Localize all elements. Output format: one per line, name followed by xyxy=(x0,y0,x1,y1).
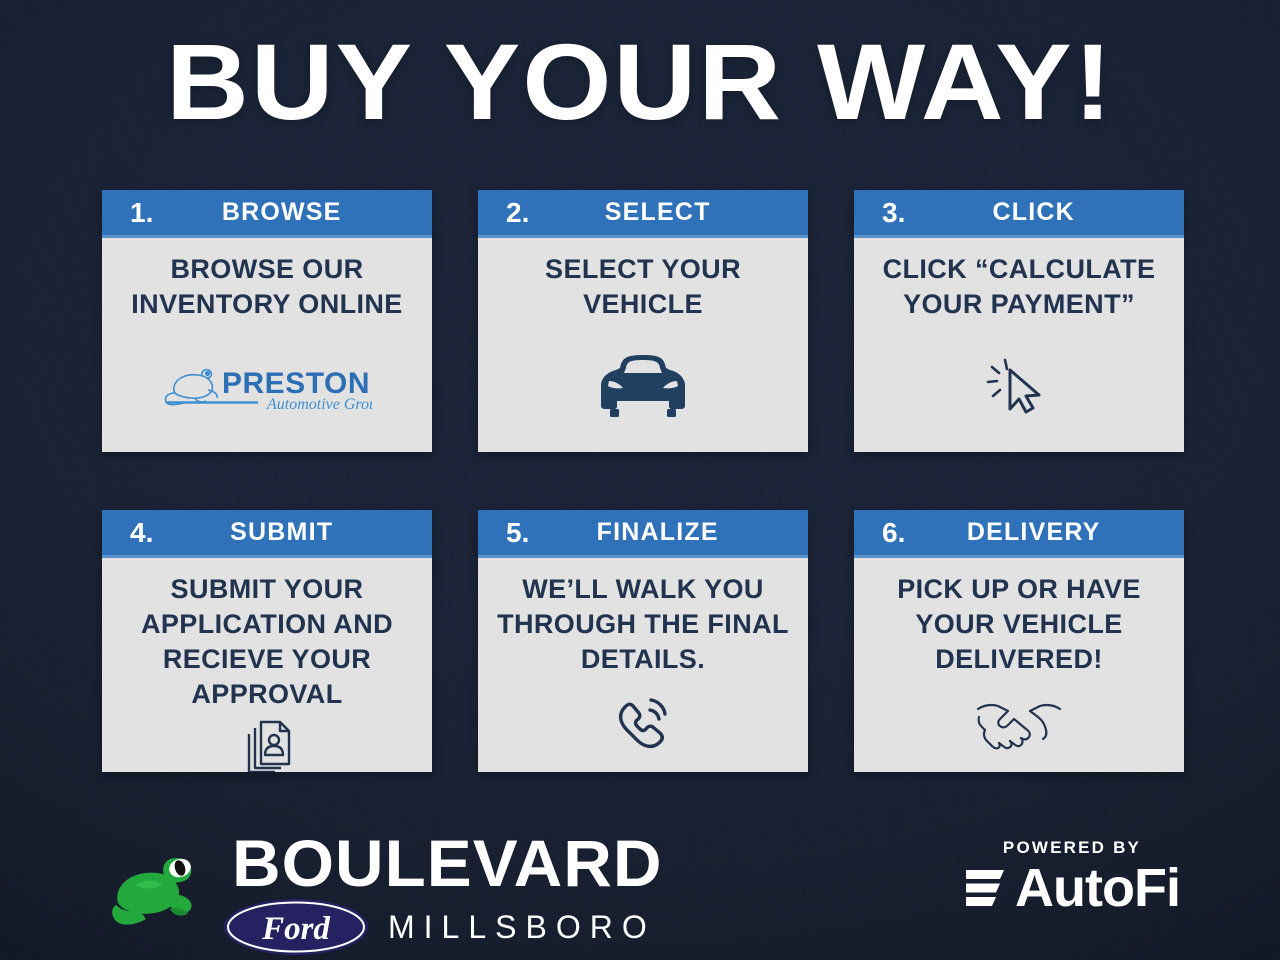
preston-automotive-group-logo: PRESTON Automotive Group xyxy=(114,322,420,444)
car-front-icon xyxy=(490,322,796,444)
cursor-click-icon xyxy=(866,322,1172,444)
step-header: 1. BROWSE xyxy=(102,190,432,238)
step-description: CLICK “CALCULATE YOUR PAYMENT” xyxy=(866,252,1172,322)
handshake-icon xyxy=(866,677,1172,764)
step-title: SELECT xyxy=(529,198,808,227)
step-number: 3. xyxy=(882,197,905,229)
powered-by-autofi[interactable]: POWERED BY AutoFi xyxy=(964,838,1180,915)
step-header: 5. FINALIZE xyxy=(478,510,808,558)
page-title: BUY YOUR WAY! xyxy=(0,28,1280,136)
ford-logo: Ford xyxy=(222,897,370,957)
dealer-branding[interactable]: BOULEVARD Ford MILLSBORO xyxy=(110,832,656,957)
step-title: FINALIZE xyxy=(529,518,808,547)
step-card-select[interactable]: 2. SELECT SELECT YOUR VEHICLE xyxy=(478,190,808,452)
step-card-delivery[interactable]: 6. DELIVERY PICK UP OR HAVE YOUR VEHICLE… xyxy=(854,510,1184,772)
step-card-click[interactable]: 3. CLICK CLICK “CALCULATE YOUR PAYMENT” xyxy=(854,190,1184,452)
step-body: WE’LL WALK YOU THROUGH THE FINAL DETAILS… xyxy=(478,558,808,772)
step-body: SELECT YOUR VEHICLE xyxy=(478,238,808,452)
step-card-browse[interactable]: 1. BROWSE BROWSE OUR INVENTORY ONLINE xyxy=(102,190,432,452)
document-person-icon xyxy=(114,712,420,772)
step-header: 4. SUBMIT xyxy=(102,510,432,558)
phone-ringing-icon xyxy=(490,677,796,764)
step-title: CLICK xyxy=(905,198,1184,227)
step-description: BROWSE OUR INVENTORY ONLINE xyxy=(114,252,420,322)
step-header: 6. DELIVERY xyxy=(854,510,1184,558)
step-number: 6. xyxy=(882,517,905,549)
step-description: WE’LL WALK YOU THROUGH THE FINAL DETAILS… xyxy=(490,572,796,677)
step-body: CLICK “CALCULATE YOUR PAYMENT” xyxy=(854,238,1184,452)
steps-grid: 1. BROWSE BROWSE OUR INVENTORY ONLINE xyxy=(102,190,1184,772)
step-title: SUBMIT xyxy=(153,518,432,547)
green-frog-logo xyxy=(110,849,222,941)
footer: BOULEVARD Ford MILLSBORO POWERED BY xyxy=(0,820,1280,960)
step-header: 3. CLICK xyxy=(854,190,1184,238)
autofi-wordmark: AutoFi xyxy=(1015,861,1180,915)
step-title: BROWSE xyxy=(153,198,432,227)
step-number: 4. xyxy=(130,517,153,549)
step-number: 1. xyxy=(130,197,153,229)
step-body: SUBMIT YOUR APPLICATION AND RECIEVE YOUR… xyxy=(102,558,432,772)
dealer-name: BOULEVARD xyxy=(232,832,664,895)
step-description: PICK UP OR HAVE YOUR VEHICLE DELIVERED! xyxy=(866,572,1172,677)
dealer-location: MILLSBORO xyxy=(388,909,656,946)
step-card-submit[interactable]: 4. SUBMIT SUBMIT YOUR APPLICATION AND RE… xyxy=(102,510,432,772)
step-title: DELIVERY xyxy=(905,518,1184,547)
step-number: 5. xyxy=(506,517,529,549)
ford-wordmark: Ford xyxy=(261,911,330,947)
powered-by-label: POWERED BY xyxy=(1003,838,1141,858)
step-description: SUBMIT YOUR APPLICATION AND RECIEVE YOUR… xyxy=(114,572,420,712)
autofi-mark-icon xyxy=(964,866,1010,910)
step-description: SELECT YOUR VEHICLE xyxy=(490,252,796,322)
step-body: BROWSE OUR INVENTORY ONLINE PRESTON xyxy=(102,238,432,452)
step-body: PICK UP OR HAVE YOUR VEHICLE DELIVERED! xyxy=(854,558,1184,772)
step-header: 2. SELECT xyxy=(478,190,808,238)
step-number: 2. xyxy=(506,197,529,229)
step-card-finalize[interactable]: 5. FINALIZE WE’LL WALK YOU THROUGH THE F… xyxy=(478,510,808,772)
preston-tagline: Automotive Group xyxy=(266,396,372,413)
